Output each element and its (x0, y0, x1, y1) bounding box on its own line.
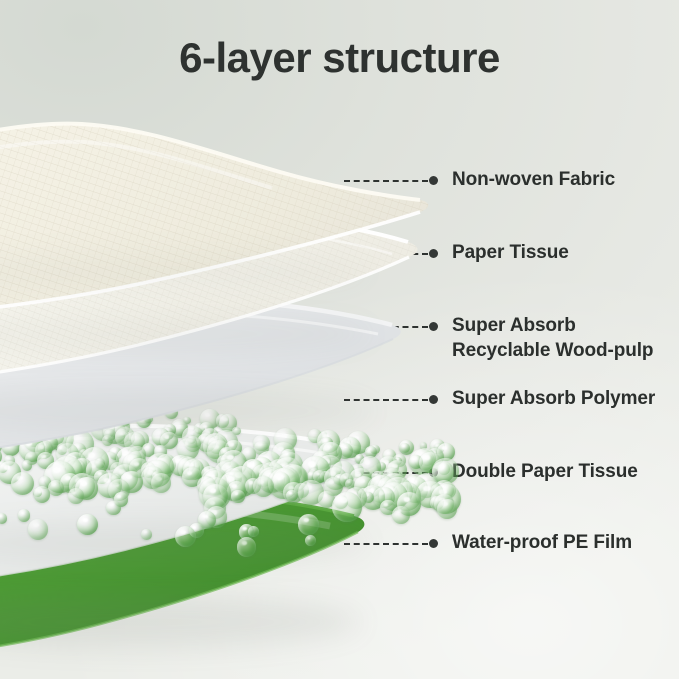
non-woven-fabric-shape (0, 100, 440, 340)
layer-stack-illustration (0, 100, 440, 660)
polymer-bead (286, 490, 298, 502)
callout-label: Paper Tissue (452, 240, 569, 265)
polymer-bead (18, 509, 30, 521)
polymer-bead (332, 492, 362, 522)
layer-non-woven-fabric (0, 100, 440, 340)
callout-label: Super Absorb Polymer (452, 386, 655, 411)
polymer-bead (48, 480, 65, 497)
polymer-bead (437, 499, 457, 519)
polymer-bead (305, 535, 316, 546)
callout-label: Super Absorb Recyclable Wood-pulp (452, 313, 653, 363)
polymer-bead (34, 486, 51, 503)
callout-label: Double Paper Tissue (452, 459, 638, 484)
polymer-bead (106, 501, 120, 515)
callout-label: Water-proof PE Film (452, 530, 632, 555)
polymer-bead (231, 490, 244, 503)
callout-label: Non-woven Fabric (452, 167, 615, 192)
polymer-bead (392, 506, 410, 524)
polymer-bead (77, 514, 98, 535)
polymer-bead (175, 526, 196, 547)
polymer-bead (298, 514, 319, 535)
layer-structure-infographic: 6-layer structure Non-woven FabricPaper … (0, 0, 679, 679)
polymer-bead (141, 529, 151, 539)
polymer-bead (68, 488, 84, 504)
polymer-bead (28, 519, 48, 539)
polymer-bead (0, 513, 7, 523)
